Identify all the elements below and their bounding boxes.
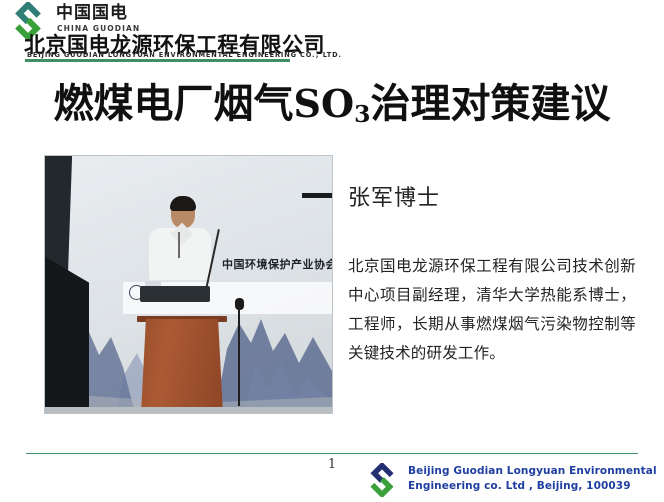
title-part-1: 燃煤电厂烟气 [54,81,294,127]
slide-title: 燃煤电厂烟气SO3治理对策建议 [0,78,664,135]
title-part-2: 治理对策建议 [370,81,610,127]
footer-green-divider [26,453,638,454]
brand-name-cn: 中国国电 [56,4,128,23]
photo-floor-microphone-stand [238,306,240,406]
photo-podium [141,319,223,413]
photo-association-text: 中国环境保护产业协会 [222,256,332,272]
title-formula-so3: SO3 [294,81,371,126]
footer-company-address: Beijing Guodian Longyuan Environmental E… [408,464,660,494]
photo-floor [45,407,332,413]
header-green-divider [25,59,290,62]
formula-main: SO [294,81,355,126]
speaker-bio: 北京国电龙源环保工程有限公司技术创新中心项目副经理，清华大学热能系博士，工程师，… [348,252,636,368]
photo-laptop [140,286,210,302]
footer-guodian-diamond-logo-icon [363,463,401,497]
photo-speaker-hair [170,196,196,211]
company-name-en: BEIJING GUODIAN LONGYUAN ENVIRONMENTAL E… [27,49,342,59]
speaker-photo: 中国环境保护产业协会 第十五届中国环境博览会 CHINA ENVIRONMENT… [45,156,332,413]
footer-line-2: Engineering co. Ltd , Beijing, 100039 [408,479,660,494]
speaker-name: 张军博士 [348,180,440,212]
footer-line-1: Beijing Guodian Longyuan Environmental [408,464,660,479]
photo-black-bar [302,193,332,198]
slide-header: 中国国电 CHINA GUODIAN 北京国电龙源环保工程有限公司 BEIJIN… [0,0,664,62]
formula-subscript: 3 [354,100,370,128]
photo-speaker-lanyard [178,232,180,258]
